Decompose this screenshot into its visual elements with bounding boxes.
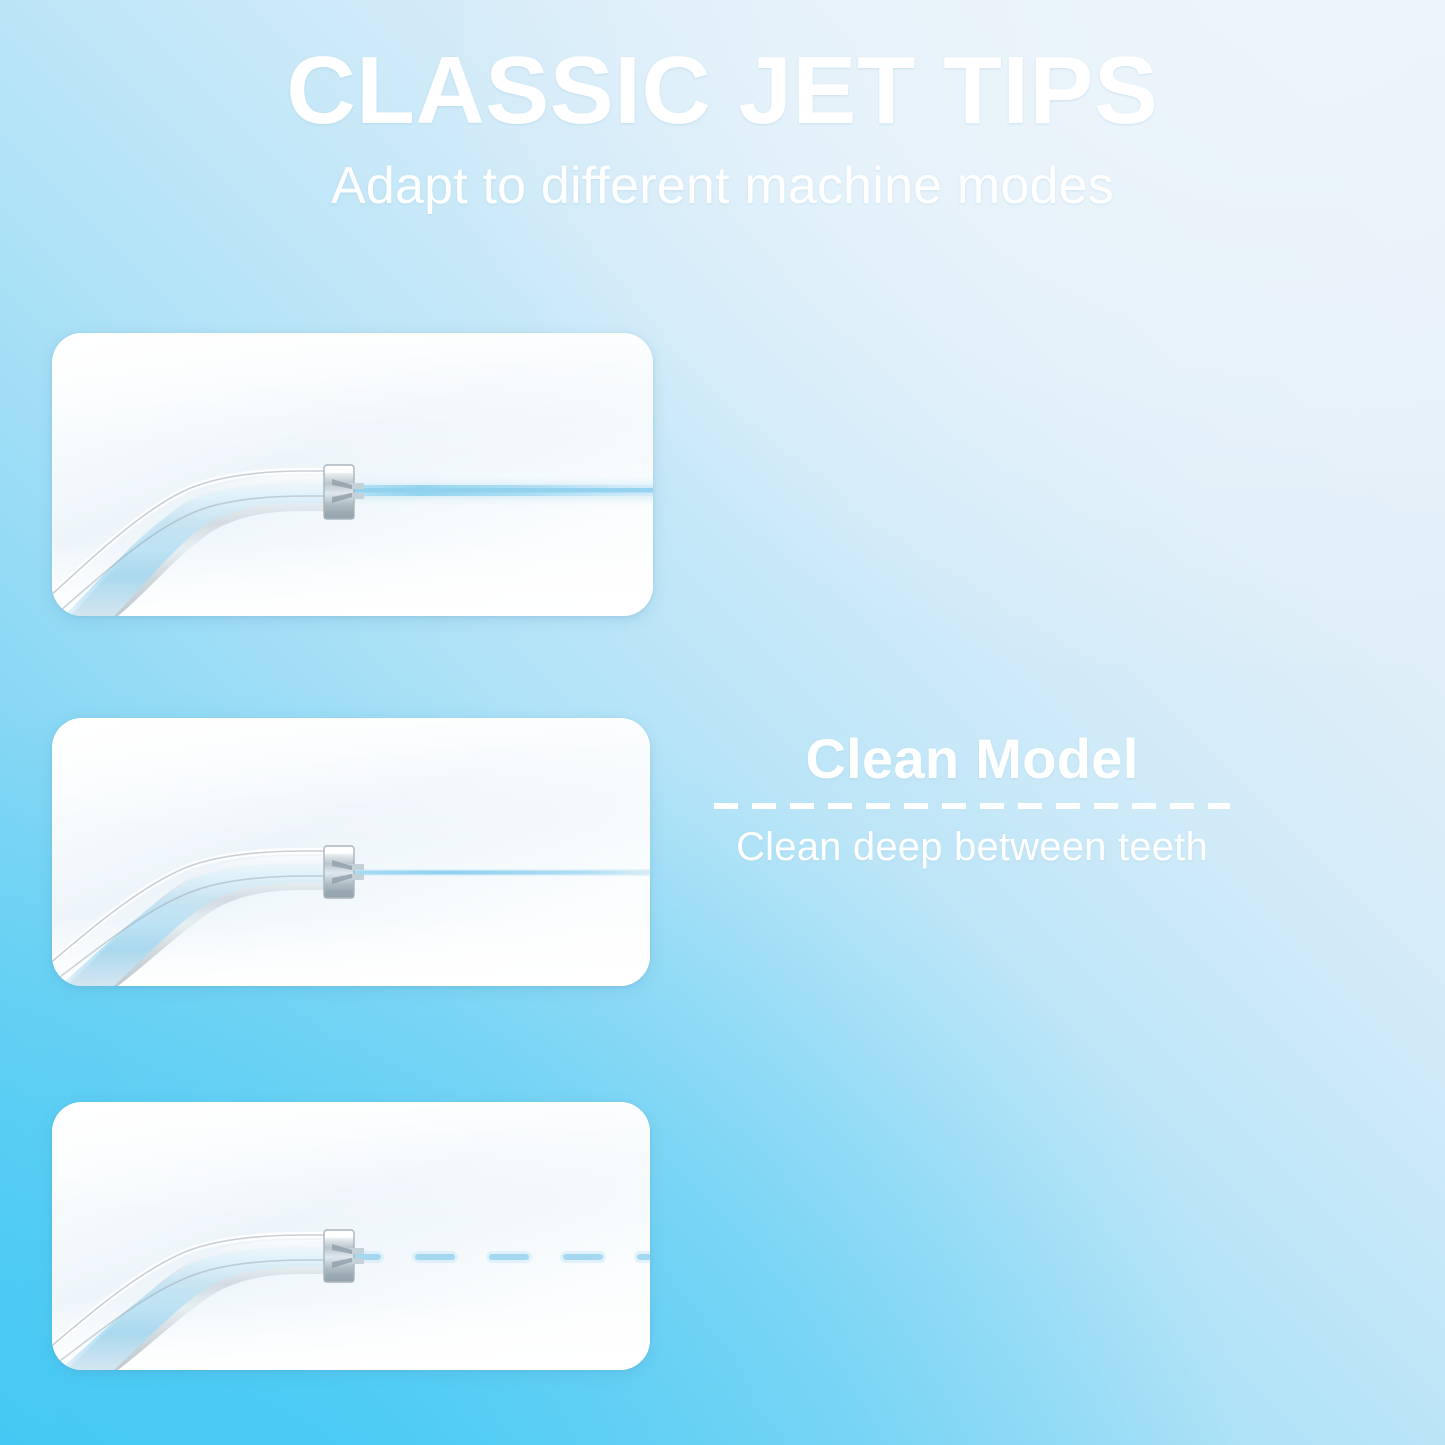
mode-row-clean: Clean Model Clean deep between teeth [0, 333, 1445, 616]
mode-row-massage: Massage Model Strong gums [0, 1102, 1445, 1370]
jet-tip-nozzle-icon [52, 1102, 650, 1370]
jet-tip-nozzle-icon [52, 718, 650, 986]
page-subtitle: Adapt to different machine modes [0, 142, 1445, 215]
jet-tip-nozzle-icon [52, 333, 653, 616]
page-title: CLASSIC JET TIPS [0, 0, 1445, 142]
mode-row-soft: Soft Model Sensitive gums [0, 718, 1445, 986]
product-card-clean [52, 333, 653, 616]
header: CLASSIC JET TIPS Adapt to different mach… [0, 0, 1445, 215]
product-card-massage [52, 1102, 650, 1370]
product-card-soft [52, 718, 650, 986]
product-infographic: CLASSIC JET TIPS Adapt to different mach… [0, 0, 1445, 1445]
